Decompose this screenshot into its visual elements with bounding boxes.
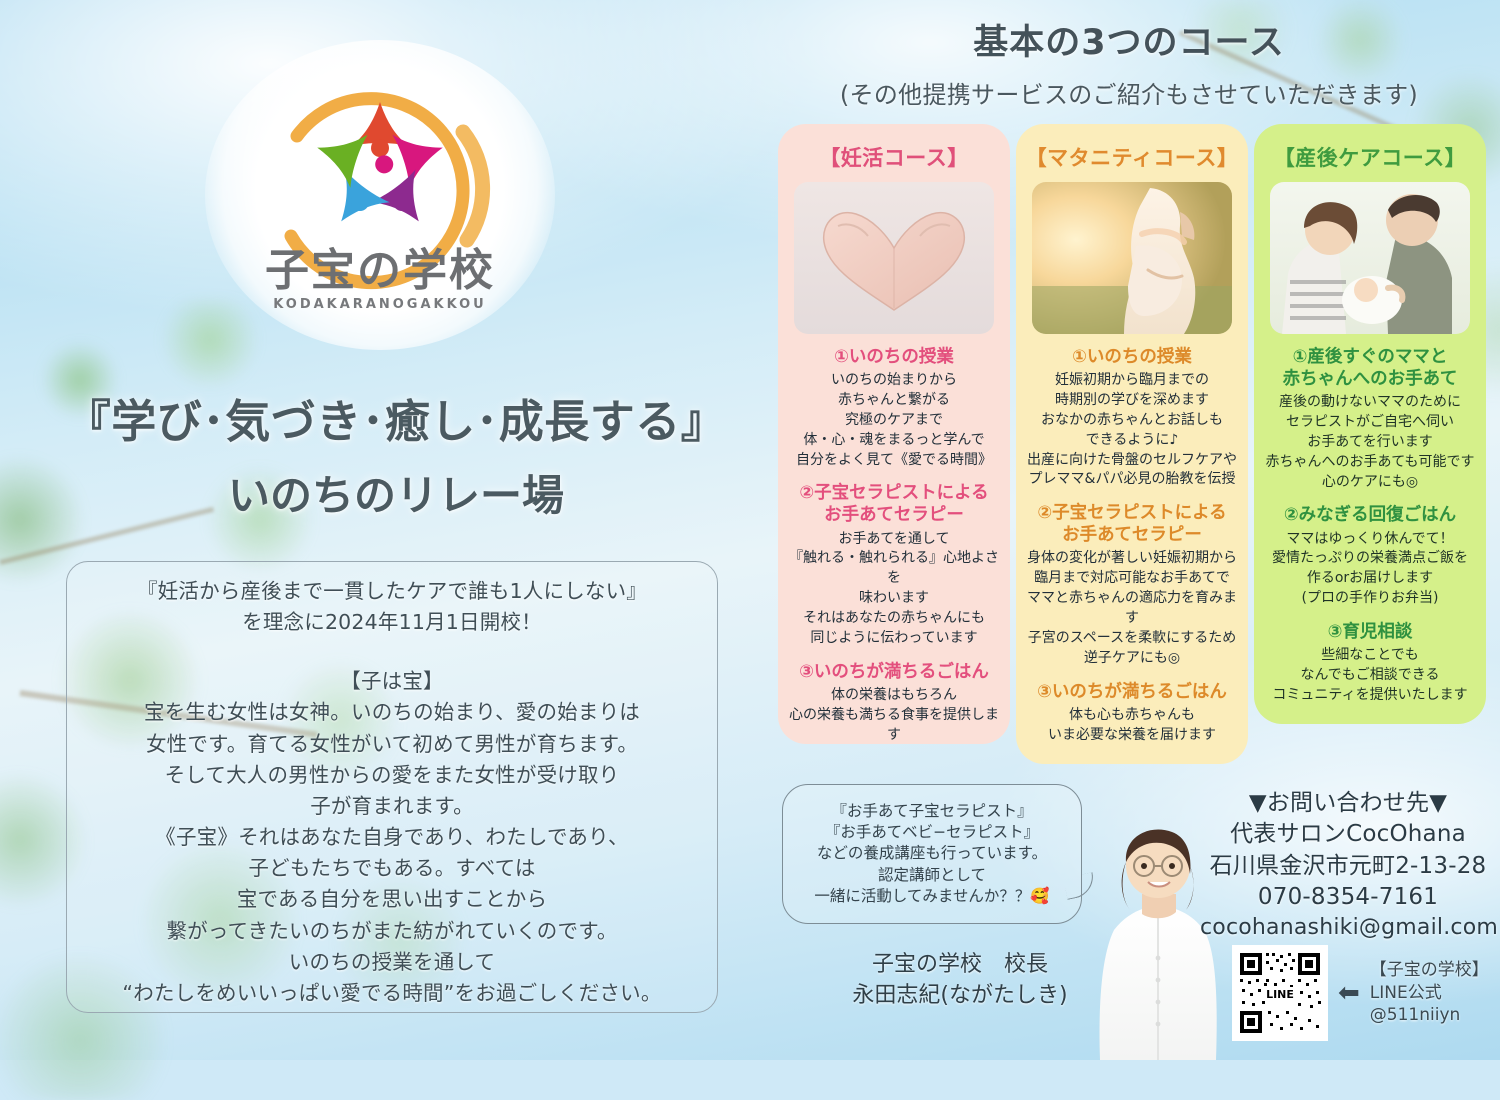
- philosophy-body-line: 宝を生む女性は女神。いのちの始まり、愛の始まりは: [83, 697, 701, 728]
- section-body: ママはゆっくり休んでて！ 愛情たっぷりの栄養満点ご飯を 作るorお届けします (…: [1262, 530, 1478, 610]
- courses-header: 基本の3つのコース (その他提携サービスのご紹介もさせていただきます): [770, 14, 1488, 110]
- course-card-ninkatsu[interactable]: 【妊活コース】 ①いのちの授業: [778, 124, 1010, 744]
- course-section: ①いのちの授業 妊娠初期から臨月までの 時期別の学びを深めます おなかの赤ちゃん…: [1024, 346, 1240, 490]
- contact-phone[interactable]: 070-8354-7161: [1200, 882, 1496, 913]
- section-heading: ②みなぎる回復ごはん: [1262, 504, 1478, 526]
- contact-salon: 代表サロンCocOhana: [1200, 819, 1496, 850]
- philosophy-body-line: 女性です。育てる女性がいて初めて男性が育ちます。: [83, 729, 701, 760]
- philosophy-body-line: 子が育まれます。: [83, 791, 701, 822]
- contact-email[interactable]: cocohanashiki@gmail.com: [1200, 913, 1496, 943]
- course-title: 【産後ケアコース】: [1262, 142, 1478, 172]
- course-cards: 【妊活コース】 ①いのちの授業: [778, 124, 1490, 764]
- headline-line-1: 『学び･気づき･癒し･成長する』: [46, 395, 746, 449]
- section-heading: ②子宝セラピストによる お手あてセラピー: [1024, 502, 1240, 546]
- bubble-line: 一緒に活動してみませんか？？🥰: [814, 886, 1049, 907]
- course-section: ②子宝セラピストによる お手あてセラピー お手あてを通して 『触れる・触れられる…: [786, 482, 1002, 648]
- courses-subtitle: (その他提携サービスのご紹介もさせていただきます): [770, 75, 1488, 110]
- philosophy-motto-line-2: を理念に2024年11月1日開校！: [83, 607, 701, 638]
- course-title: 【妊活コース】: [786, 142, 1002, 172]
- section-body: 些細なことでも なんでもご相談できる コミュニティを提供いたします: [1262, 646, 1478, 706]
- course-card-maternity[interactable]: 【マタニティコース】: [1016, 124, 1248, 764]
- bubble-line: 『お手あて子宝セラピスト』: [831, 801, 1032, 822]
- bubble-line: 認定講師として: [878, 865, 986, 886]
- principal-role: 子宝の学校 校長: [810, 950, 1110, 981]
- contact-address: 石川県金沢市元町2-13-28: [1200, 851, 1496, 882]
- course-card-postpartum[interactable]: 【産後ケアコース】: [1254, 124, 1486, 724]
- section-heading: ②子宝セラピストによる お手あてセラピー: [786, 482, 1002, 526]
- line-subtitle: LINE公式: [1370, 982, 1489, 1005]
- section-heading: ①産後すぐのママと 赤ちゃんへのお手あて: [1262, 346, 1478, 390]
- section-body: 体も心も赤ちゃんも いま必要な栄養を届けます: [1024, 706, 1240, 746]
- section-body: 産後の動けないママのために セラピストがご自宅へ伺い お手あてを行います 赤ちゃ…: [1262, 393, 1478, 492]
- parents-with-newborn-photo: [1270, 182, 1470, 334]
- section-body: 妊娠初期から臨月までの 時期別の学びを深めます おなかの赤ちゃんとお話しも でき…: [1024, 371, 1240, 490]
- section-heading: ③育児相談: [1262, 621, 1478, 643]
- course-section: ③育児相談 些細なことでも なんでもご相談できる コミュニティを提供いたします: [1262, 621, 1478, 706]
- course-section: ①いのちの授業 いのちの始まりから 赤ちゃんと繋がる 究極のケアまで 体・心・魂…: [786, 346, 1002, 470]
- philosophy-box: 『妊活から産後まで一貫したケアで誰も1人にしない』 を理念に2024年11月1日…: [66, 561, 718, 1013]
- course-title: 【マタニティコース】: [1024, 142, 1240, 172]
- school-logo: 子宝の学校 KODAKARANOGAKKOU: [205, 40, 555, 350]
- philosophy-motto-line-1: 『妊活から産後まで一貫したケアで誰も1人にしない』: [83, 576, 701, 607]
- line-account-id: @511niiyn: [1370, 1004, 1489, 1027]
- contact-block: ▼お問い合わせ先▼ 代表サロンCocOhana 石川県金沢市元町2-13-28 …: [1200, 788, 1496, 943]
- course-section: ②みなぎる回復ごはん ママはゆっくり休んでて！ 愛情たっぷりの栄養満点ご飯を 作…: [1262, 504, 1478, 609]
- course-section: ③いのちが満ちるごはん 体の栄養はもちろん 心の栄養も満ちる食事を提供します: [786, 661, 1002, 746]
- section-heading: ③いのちが満ちるごはん: [1024, 681, 1240, 703]
- line-account-info: 【子宝の学校】 LINE公式 @511niiyn: [1370, 959, 1489, 1027]
- course-section: ③いのちが満ちるごはん 体も心も赤ちゃんも いま必要な栄養を届けます: [1024, 681, 1240, 746]
- section-heading: ③いのちが満ちるごはん: [786, 661, 1002, 683]
- hands-forming-heart-photo: [794, 182, 994, 334]
- line-qr-code[interactable]: LINE: [1232, 945, 1328, 1041]
- logo-name-romaji: KODAKARANOGAKKOU: [273, 297, 486, 312]
- section-heading: ①いのちの授業: [786, 346, 1002, 368]
- courses-title: 基本の3つのコース: [770, 14, 1488, 65]
- arrow-left-icon: ⬅: [1338, 980, 1360, 1006]
- line-title: 【子宝の学校】: [1370, 959, 1489, 982]
- section-body: いのちの始まりから 赤ちゃんと繋がる 究極のケアまで 体・心・魂をまるっと学んで…: [786, 371, 1002, 470]
- philosophy-title: 【子は宝】: [83, 666, 701, 697]
- principal-name: 永田志紀(ながたしき): [810, 981, 1110, 1012]
- course-section: ②子宝セラピストによる お手あてセラピー 身体の変化が著しい妊娠初期から 臨月ま…: [1024, 502, 1240, 668]
- bubble-line: などの養成講座も行っています。: [817, 843, 1047, 864]
- philosophy-body-line: “わたしをめいいっぱい愛でる時間”をお過ごしください。: [83, 978, 701, 1009]
- bubble-line: 『お手あてベビ−セラピスト』: [825, 822, 1039, 843]
- trainer-invitation-bubble: 『お手あて子宝セラピスト』 『お手あてベビ−セラピスト』 などの養成講座も行って…: [782, 784, 1082, 924]
- main-headline: 『学び･気づき･癒し･成長する』 いのちのリレー場: [46, 395, 746, 521]
- principal-info: 子宝の学校 校長 永田志紀(ながたしき): [810, 950, 1110, 1012]
- spacer: [83, 638, 701, 664]
- philosophy-body-line: 宝である自分を思い出すことから: [83, 884, 701, 915]
- philosophy-body-line: 《子宝》それはあなた自身であり、わたしであり、: [83, 822, 701, 853]
- section-body: 身体の変化が著しい妊娠初期から 臨月まで対応可能なお手あてで ママと赤ちゃんの適…: [1024, 549, 1240, 668]
- qr-center-label: LINE: [1266, 988, 1294, 1001]
- contact-heading: ▼お問い合わせ先▼: [1200, 788, 1496, 819]
- line-qr-block: LINE ⬅ 【子宝の学校】 LINE公式 @511niiyn: [1232, 945, 1489, 1041]
- philosophy-body-line: いのちの授業を通して: [83, 947, 701, 978]
- philosophy-body-line: そして大人の男性からの愛をまた女性が受け取り: [83, 760, 701, 791]
- course-section: ①産後すぐのママと 赤ちゃんへのお手あて 産後の動けないママのために セラピスト…: [1262, 346, 1478, 492]
- headline-line-2: いのちのリレー場: [46, 471, 746, 521]
- philosophy-body-line: 繋がってきたいのちがまた紡がれていくのです。: [83, 916, 701, 947]
- philosophy-body-line: 子どもたちでもある。すべては: [83, 853, 701, 884]
- section-heading: ①いのちの授業: [1024, 346, 1240, 368]
- logo-name-ja: 子宝の学校: [265, 245, 495, 296]
- section-body: 体の栄養はもちろん 心の栄養も満ちる食事を提供します: [786, 686, 1002, 746]
- section-body: お手あてを通して 『触れる・触れられる』心地よさを 味わいます それはあなたの赤…: [786, 530, 1002, 649]
- pregnant-woman-sunset-photo: [1032, 182, 1232, 334]
